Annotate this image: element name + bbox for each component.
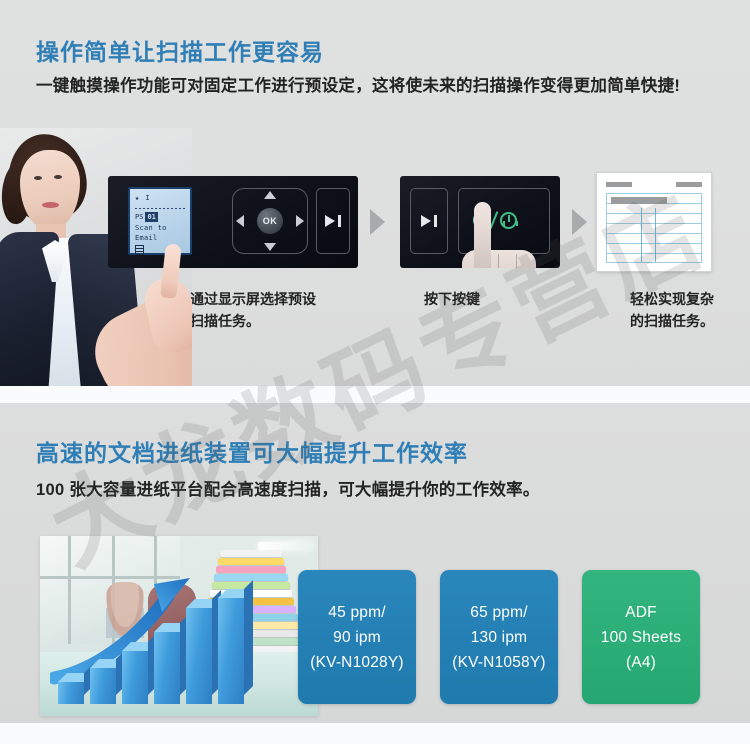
table-title-bar [611, 197, 667, 204]
ceiling-light [258, 542, 312, 550]
bar-1 [58, 682, 84, 704]
arrow-down-icon[interactable] [264, 243, 276, 251]
header-bar-left [606, 182, 632, 187]
section-two-body: 100 张大容量进纸平台配合高速度扫描，可大幅提升你的工作效率。 [36, 476, 736, 504]
step-caption-3: 轻松实现复杂 的扫描任务。 [584, 288, 714, 332]
spec-3-line3: (A4) [626, 650, 656, 675]
table-column-line-1 [641, 208, 642, 262]
spec-1-line1: 45 ppm/ [328, 600, 385, 625]
ok-button[interactable]: OK [257, 208, 283, 234]
document-table [606, 193, 702, 263]
feature-section-easy-operation: 操作简单让扫描工作更容易 一键触摸操作功能可对固定工作进行预设定，这将使未来的扫… [0, 0, 750, 386]
section-one-body: 一键触摸操作功能可对固定工作进行预设定，这将使未来的扫描操作变得更加简单快捷! [36, 72, 726, 100]
spec-card-kv-n1028y[interactable]: 45 ppm/ 90 ipm (KV-N1028Y) [298, 570, 416, 704]
dpad-control[interactable]: OK [232, 188, 308, 254]
step-caption-1-line2: 扫描任务。 [190, 310, 316, 332]
stacked-document [220, 550, 282, 557]
skip-forward-icon-2 [421, 215, 437, 227]
spec-2-line3: (KV-N1058Y) [452, 650, 546, 675]
section-two-heading: 高速的文档进纸装置可大幅提升工作效率 [36, 434, 468, 468]
spec-3-line2: 100 Sheets [601, 625, 681, 650]
skip-forward-button-2[interactable] [410, 188, 448, 254]
bar-3 [122, 651, 148, 704]
step-arrow-icon-2 [572, 209, 587, 235]
step-caption-1-line1: 通过显示屏选择预设 [190, 288, 316, 310]
spec-2-line1: 65 ppm/ [470, 600, 527, 625]
spec-3-line1: ADF [625, 600, 657, 625]
bar-5 [186, 608, 212, 704]
spec-card-adf[interactable]: ADF 100 Sheets (A4) [582, 570, 700, 704]
arrow-left-icon[interactable] [236, 215, 244, 227]
growth-chart-photo [40, 536, 318, 716]
step-caption-3-line2: 的扫描任务。 [584, 310, 714, 332]
spec-1-line3: (KV-N1028Y) [310, 650, 404, 675]
bar-6 [218, 598, 244, 704]
table-column-line-2 [655, 208, 656, 262]
arrow-right-icon[interactable] [296, 215, 304, 227]
step-caption-3-line1: 轻松实现复杂 [584, 288, 714, 310]
step-arrow-icon-1 [370, 209, 385, 235]
section-one-heading: 操作简单让扫描工作更容易 [36, 33, 324, 67]
step-caption-2: 按下按键 [424, 288, 480, 310]
header-bar-right [676, 182, 702, 187]
start-stop-button[interactable] [458, 188, 550, 254]
scanner-control-panel-buttons [400, 176, 560, 268]
spec-2-line2: 130 ipm [471, 625, 528, 650]
scanned-document-preview [596, 172, 712, 272]
step-caption-1: 通过显示屏选择预设 扫描任务。 [190, 288, 316, 332]
spec-1-line2: 90 ipm [333, 625, 381, 650]
bar-4 [154, 632, 180, 704]
spec-card-kv-n1058y[interactable]: 65 ppm/ 130 ipm (KV-N1058Y) [440, 570, 558, 704]
stop-icon [500, 212, 517, 229]
product-detail-page: 操作简单让扫描工作更容易 一键触摸操作功能可对固定工作进行预设定，这将使未来的扫… [0, 0, 750, 744]
arrow-up-icon[interactable] [264, 191, 276, 199]
skip-forward-icon [325, 215, 341, 227]
stacked-document [218, 558, 284, 565]
pressing-finger [474, 202, 491, 268]
document-header [606, 182, 702, 187]
section-divider [0, 386, 750, 403]
pointing-arm-layer [0, 128, 192, 386]
skip-forward-button[interactable] [316, 188, 350, 254]
bar-2 [90, 668, 116, 704]
page-bottom-edge [0, 723, 750, 744]
